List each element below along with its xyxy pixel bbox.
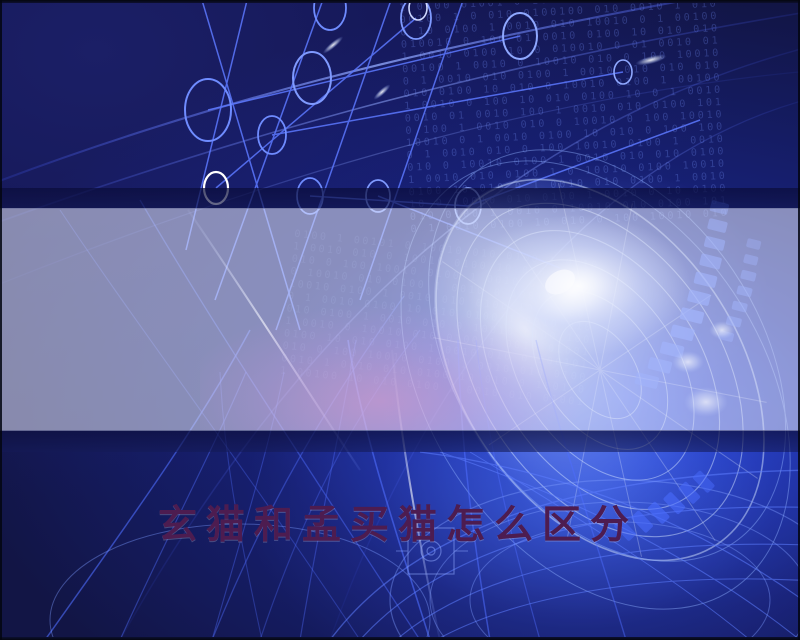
node-ring (293, 52, 331, 104)
banner-image: 010010 0 1000101 00 0110010 1 00100 1 01… (0, 0, 800, 640)
banner-white-glow (440, 199, 770, 440)
banner-bottom-dark-strip (0, 430, 800, 452)
frame-edge-left (0, 0, 2, 640)
banner-top-dark-strip (0, 188, 800, 209)
frame-edge-top (0, 0, 800, 3)
node-ring (258, 116, 286, 154)
node-ring (185, 79, 231, 141)
node-ring (314, 0, 346, 30)
banner-pink-glow (200, 269, 630, 430)
page-title: 玄猫和孟买猫怎么区分 (158, 505, 638, 547)
banner-band: 玄猫和孟买猫怎么区分 (0, 209, 800, 430)
